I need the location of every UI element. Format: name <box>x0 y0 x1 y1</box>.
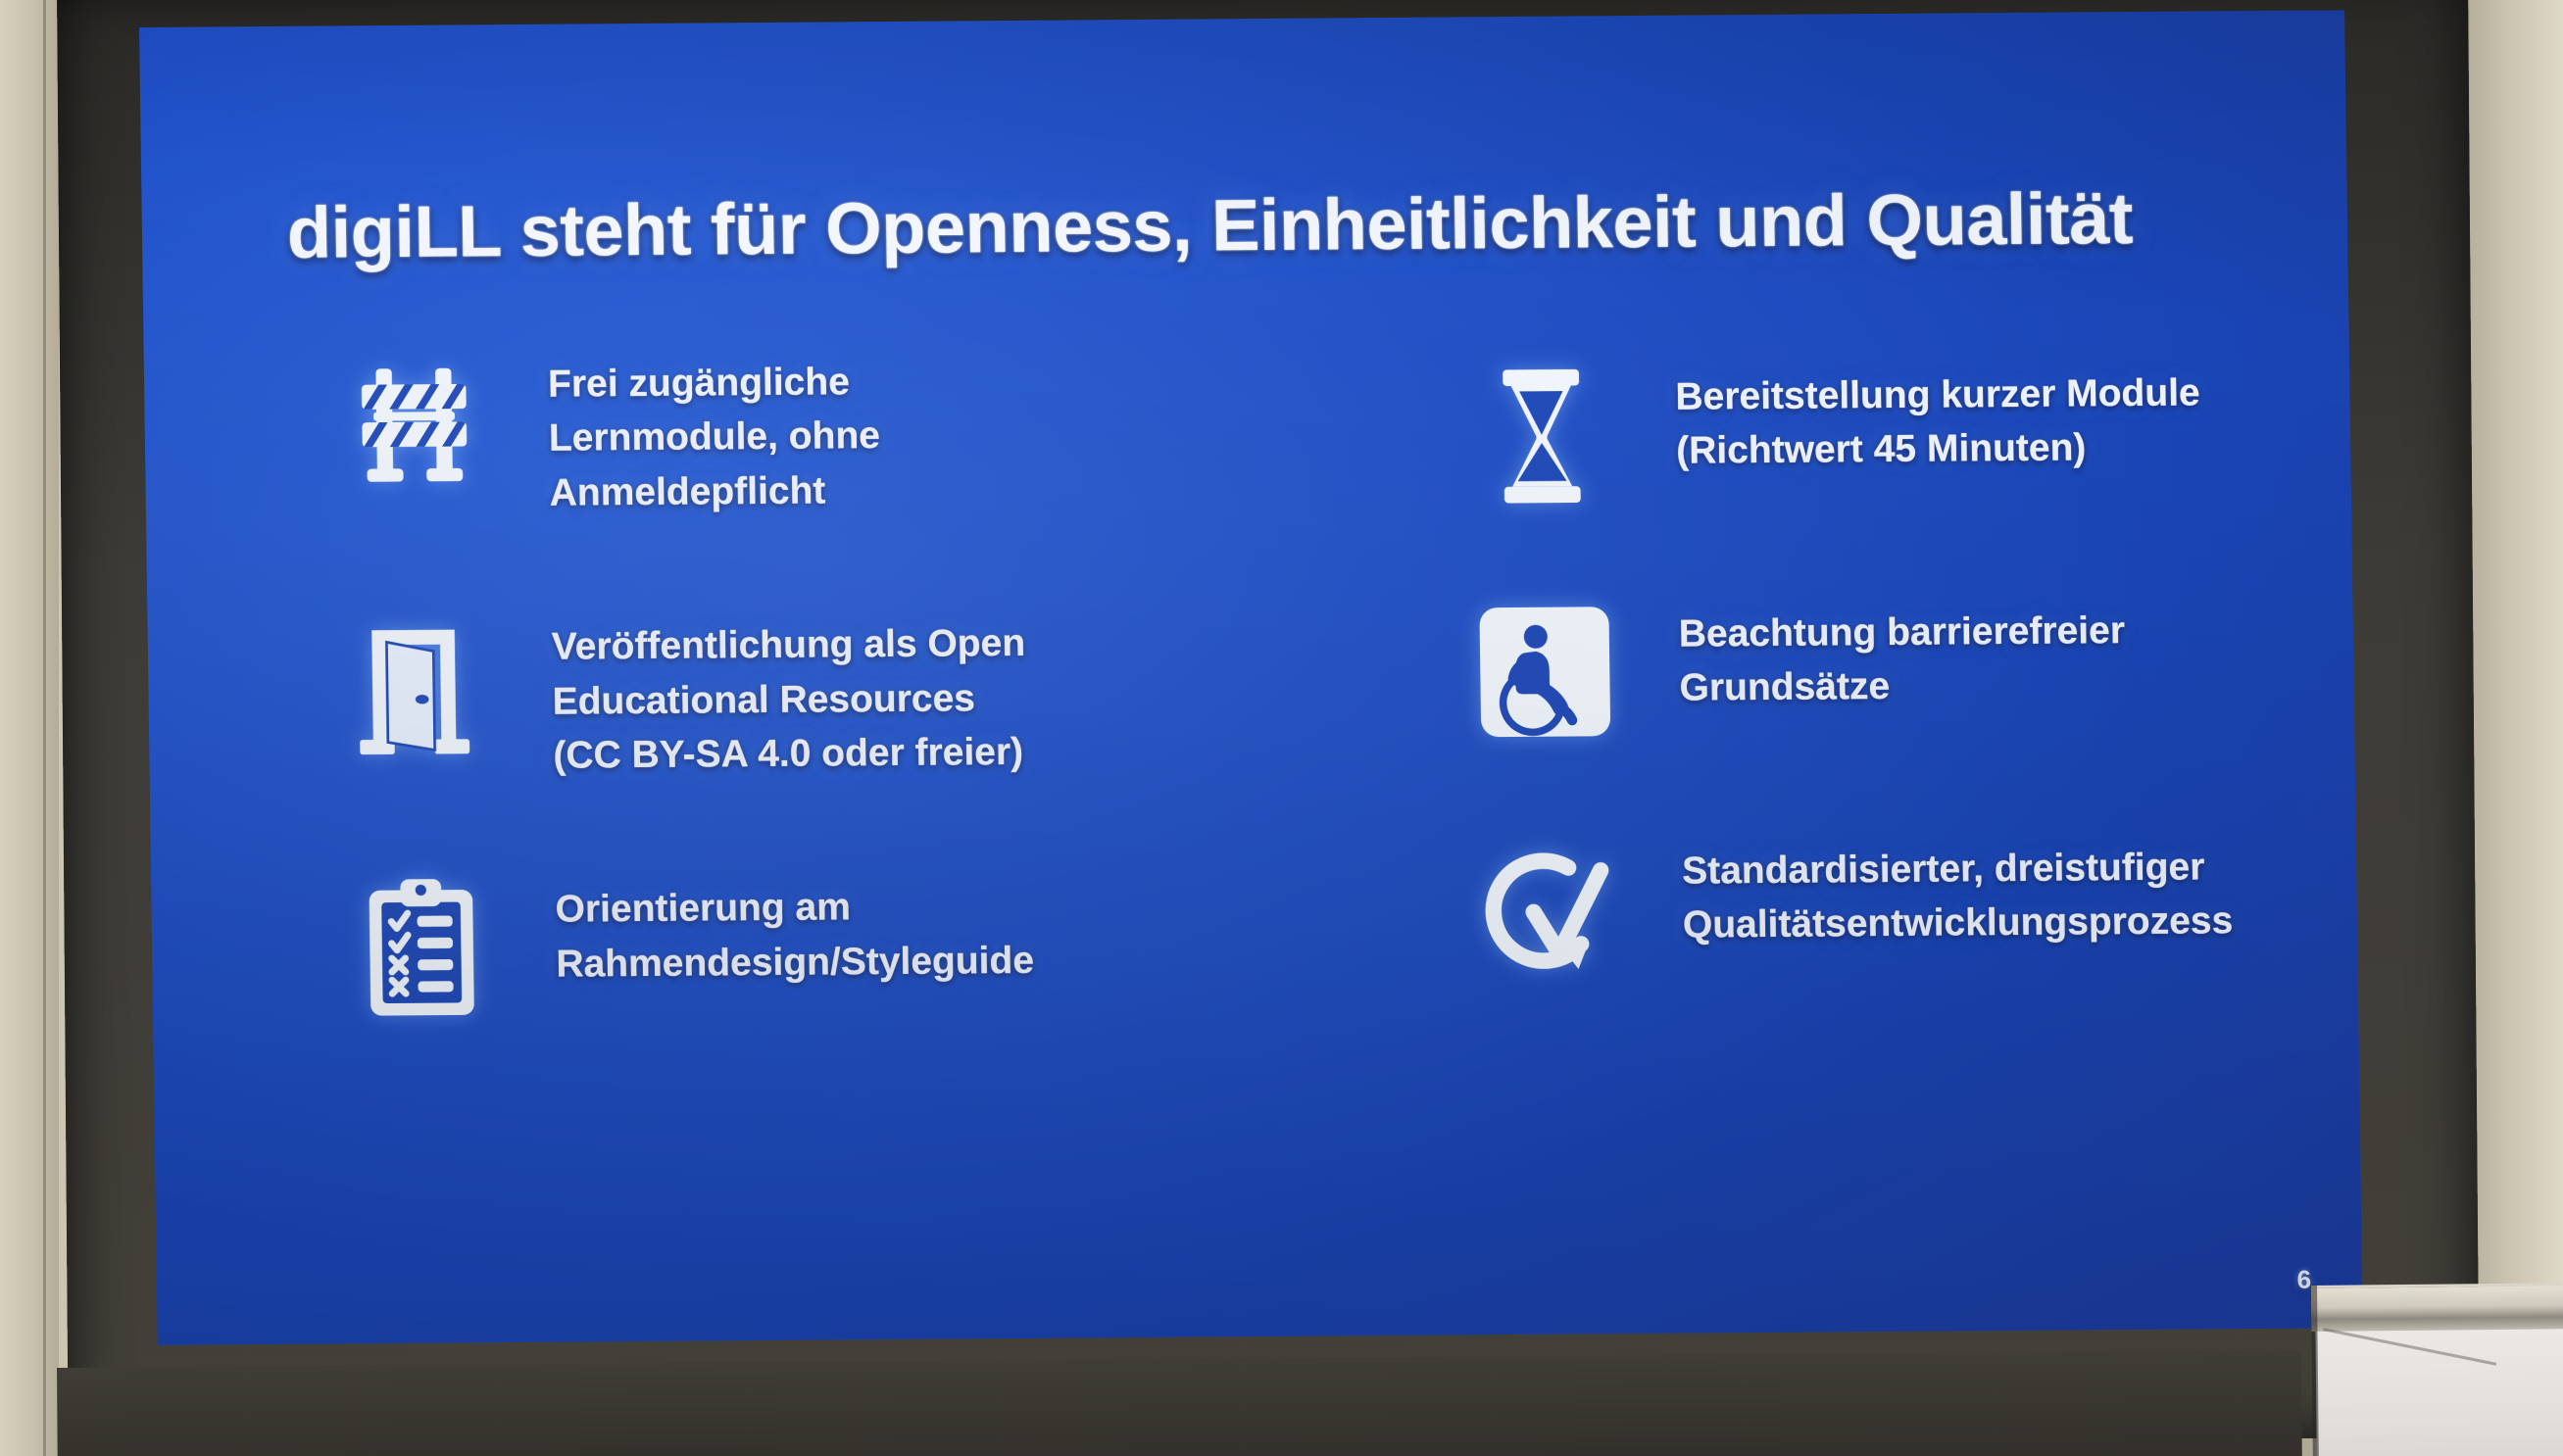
feature-line: Rahmendesign/Styleguide <box>556 933 1034 991</box>
feature-column-left: Frei zugängliche Lernmodule, ohne Anmeld… <box>144 342 1233 1113</box>
feature-line: (Richtwert 45 Minuten) <box>1676 420 2201 479</box>
wheelchair-accessibility-icon <box>1470 598 1619 746</box>
slide-number: 6 <box>2296 1265 2311 1295</box>
circular-arrow-check-icon <box>1474 835 1623 983</box>
feature-line: Frei zugängliche <box>548 355 880 412</box>
feature-line: Lernmodule, ohne <box>549 409 881 465</box>
feature-item: Bereitstellung kurzer Module (Richtwert … <box>1467 355 2351 509</box>
feature-text: Frei zugängliche Lernmodule, ohne Anmeld… <box>548 345 881 520</box>
feature-line: Anmeldepflicht <box>549 463 881 520</box>
feature-item: Orientierung am Rahmendesign/Styleguide <box>347 868 1231 1022</box>
slide-title: digiLL steht für Openness, Einheitlichke… <box>286 180 2149 271</box>
feature-text: Bereitstellung kurzer Module (Richtwert … <box>1675 356 2201 478</box>
flipchart-board <box>2311 1283 2563 1456</box>
wall-left-panel <box>0 0 59 1456</box>
photo-of-presentation-screen: digiLL steht für Openness, Einheitlichke… <box>0 0 2563 1456</box>
road-barrier-icon <box>340 348 489 496</box>
feature-line: Beachtung barrierefreier <box>1678 604 2125 661</box>
feature-line: Orientierung am <box>555 879 1033 937</box>
feature-item: Standardisierter, dreistufiger Qualitäts… <box>1474 829 2358 983</box>
feature-line: Qualitätsentwicklungsprozess <box>1683 895 2234 953</box>
flipchart-rail <box>2311 1283 2563 1332</box>
feature-text: Veröffentlichung als Open Educational Re… <box>551 607 1027 783</box>
feature-text: Beachtung barrierefreier Grundsätze <box>1678 594 2126 715</box>
open-door-icon <box>343 610 492 758</box>
screen-lower-bezel <box>57 1350 2302 1456</box>
feature-line: (CC BY-SA 4.0 oder freier) <box>553 725 1027 783</box>
feature-item: Frei zugängliche Lernmodule, ohne Anmeld… <box>340 342 1224 521</box>
feature-item: Beachtung barrierefreier Grundsätze <box>1470 592 2354 746</box>
wall-right-panel <box>2470 0 2563 1456</box>
feature-text: Orientierung am Rahmendesign/Styleguide <box>555 869 1034 992</box>
feature-line: Standardisierter, dreistufiger <box>1682 840 2233 898</box>
feature-line: Grundsätze <box>1679 657 2126 715</box>
feature-item: Veröffentlichung als Open Educational Re… <box>343 605 1227 784</box>
presentation-slide: digiLL steht für Openness, Einheitlichke… <box>139 10 2363 1345</box>
feature-column-right: Bereitstellung kurzer Module (Richtwert … <box>1222 333 2360 1104</box>
hourglass-icon <box>1467 361 1616 509</box>
clipboard-checklist-icon <box>347 873 496 1021</box>
feature-line: Bereitstellung kurzer Module <box>1675 365 2200 424</box>
feature-text: Standardisierter, dreistufiger Qualitäts… <box>1682 830 2234 952</box>
wall-seam <box>43 0 46 1456</box>
feature-line: Veröffentlichung als Open <box>551 616 1025 674</box>
flipchart-paper <box>2315 1324 2563 1456</box>
feature-columns: Frei zugängliche Lernmodule, ohne Anmeld… <box>144 333 2360 1113</box>
feature-line: Educational Resources <box>552 670 1026 728</box>
